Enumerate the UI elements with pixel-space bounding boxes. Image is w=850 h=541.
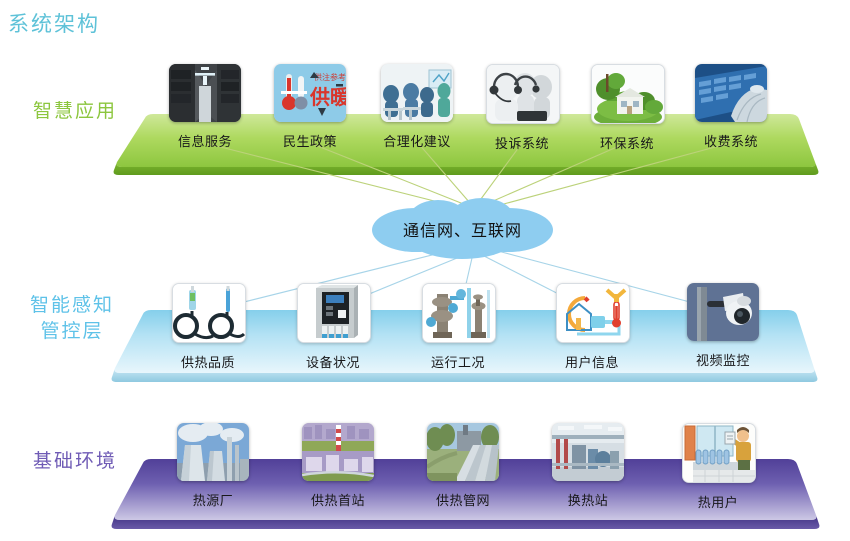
app-node-environmental-system[interactable]: 环保系统	[591, 64, 673, 152]
svg-text:供暖: 供暖	[309, 85, 346, 109]
base-node-label: 供热首站	[292, 490, 384, 509]
heating-policy-poster-icon: 供注参考 供暖	[274, 64, 346, 122]
heating-first-station-aerial-icon	[302, 423, 374, 481]
meeting-discussion-icon	[381, 64, 453, 122]
keyboard-typing-icon	[695, 64, 767, 122]
sense-node-video-surveillance[interactable]: 视频监控	[687, 283, 769, 369]
radiator-user-icon	[682, 423, 756, 483]
app-node-complaint-system[interactable]: 投诉系统	[486, 64, 568, 152]
house-heating-meter-icon	[556, 283, 630, 343]
communication-internet-cloud: 通信网、互联网	[370, 196, 555, 262]
app-node-label: 收费系统	[685, 131, 777, 150]
app-node-rationalization-suggestion[interactable]: 合理化建议	[381, 64, 463, 150]
app-node-label: 投诉系统	[476, 133, 568, 152]
base-node-heating-first-station[interactable]: 供热首站	[302, 423, 384, 509]
cooling-towers-plant-icon	[177, 423, 249, 481]
eco-green-house-icon	[591, 64, 665, 124]
sense-node-label: 供热品质	[162, 352, 254, 371]
svg-text:供注参考: 供注参考	[314, 72, 346, 82]
sense-node-heating-quality[interactable]: 供热品质	[172, 283, 254, 371]
heat-exchange-station-icon	[552, 423, 624, 481]
app-node-label: 民生政策	[264, 131, 356, 150]
base-node-heat-user[interactable]: 热用户	[682, 423, 764, 511]
app-node-label: 环保系统	[581, 133, 673, 152]
app-node-label: 信息服务	[159, 131, 251, 150]
sense-node-operating-condition[interactable]: 运行工况	[422, 283, 504, 371]
base-node-heat-source-plant[interactable]: 热源厂	[177, 423, 259, 509]
system-architecture-diagram: 系统架构	[0, 0, 850, 541]
sense-node-label: 设备状况	[287, 352, 379, 371]
sense-node-equipment-status[interactable]: 设备状况	[297, 283, 379, 371]
valve-assembly-icon	[422, 283, 496, 343]
base-node-heating-pipe-network[interactable]: 供热管网	[427, 423, 509, 509]
app-node-information-service[interactable]: 信息服务	[169, 64, 251, 150]
sense-node-user-information[interactable]: 用户信息	[556, 283, 638, 371]
ptz-surveillance-camera-icon	[687, 283, 759, 341]
server-room-icon	[169, 64, 241, 122]
app-node-label: 合理化建议	[371, 131, 463, 150]
call-center-headset-icon	[486, 64, 560, 124]
app-node-livelihood-policy[interactable]: 供注参考 供暖 民生政策	[274, 64, 356, 150]
pipeline-network-icon	[427, 423, 499, 481]
sense-node-label: 视频监控	[677, 350, 769, 369]
base-node-heat-exchange-station[interactable]: 换热站	[552, 423, 634, 509]
sense-node-label: 用户信息	[546, 352, 638, 371]
temperature-probe-sensor-icon	[172, 283, 246, 343]
base-node-label: 热源厂	[167, 490, 259, 509]
app-node-billing-system[interactable]: 收费系统	[695, 64, 777, 150]
base-node-label: 热用户	[672, 492, 764, 511]
sense-node-label: 运行工况	[412, 352, 504, 371]
control-cabinet-icon	[297, 283, 371, 343]
cloud-label: 通信网、互联网	[370, 196, 555, 262]
base-node-label: 换热站	[542, 490, 634, 509]
base-node-label: 供热管网	[417, 490, 509, 509]
